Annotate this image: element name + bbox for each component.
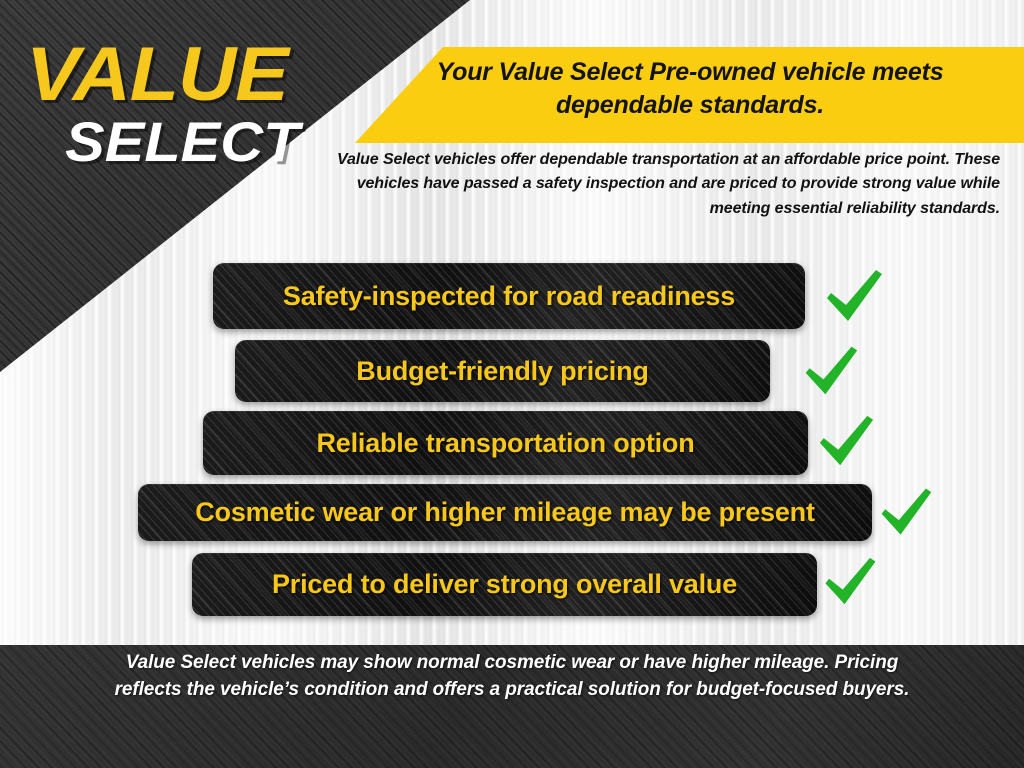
checkmark-icon xyxy=(821,265,887,327)
checkmark-icon xyxy=(800,342,862,400)
feature-row: Reliable transportation option xyxy=(203,411,808,475)
feature-label: Safety-inspected for road readiness xyxy=(269,281,749,312)
feature-row: Safety-inspected for road readiness xyxy=(213,263,805,329)
feature-bar: Budget-friendly pricing xyxy=(235,340,770,402)
footer-text: Value Select vehicles may show normal co… xyxy=(92,650,932,704)
feature-label: Priced to deliver strong overall value xyxy=(258,569,751,600)
brand-logo: VALUE SELECT xyxy=(26,38,346,170)
promo-banner: VALUE SELECT Your Value Select Pre-owned… xyxy=(0,0,1024,768)
logo-word-value: VALUE xyxy=(26,38,365,112)
feature-bar: Safety-inspected for road readiness xyxy=(213,263,805,329)
feature-bar: Reliable transportation option xyxy=(203,411,808,475)
feature-row: Priced to deliver strong overall value xyxy=(192,553,817,616)
checkmark-icon xyxy=(814,411,878,471)
logo-word-select: SELECT xyxy=(7,114,346,170)
checkmark-icon xyxy=(820,553,880,610)
feature-row: Cosmetic wear or higher mileage may be p… xyxy=(138,484,872,541)
feature-row: Budget-friendly pricing xyxy=(235,340,770,402)
feature-label: Cosmetic wear or higher mileage may be p… xyxy=(181,497,829,528)
feature-label: Reliable transportation option xyxy=(302,428,708,459)
feature-bar: Cosmetic wear or higher mileage may be p… xyxy=(138,484,872,541)
checkmark-icon xyxy=(876,484,936,540)
feature-label: Budget-friendly pricing xyxy=(342,356,662,387)
feature-bar: Priced to deliver strong overall value xyxy=(192,553,817,616)
